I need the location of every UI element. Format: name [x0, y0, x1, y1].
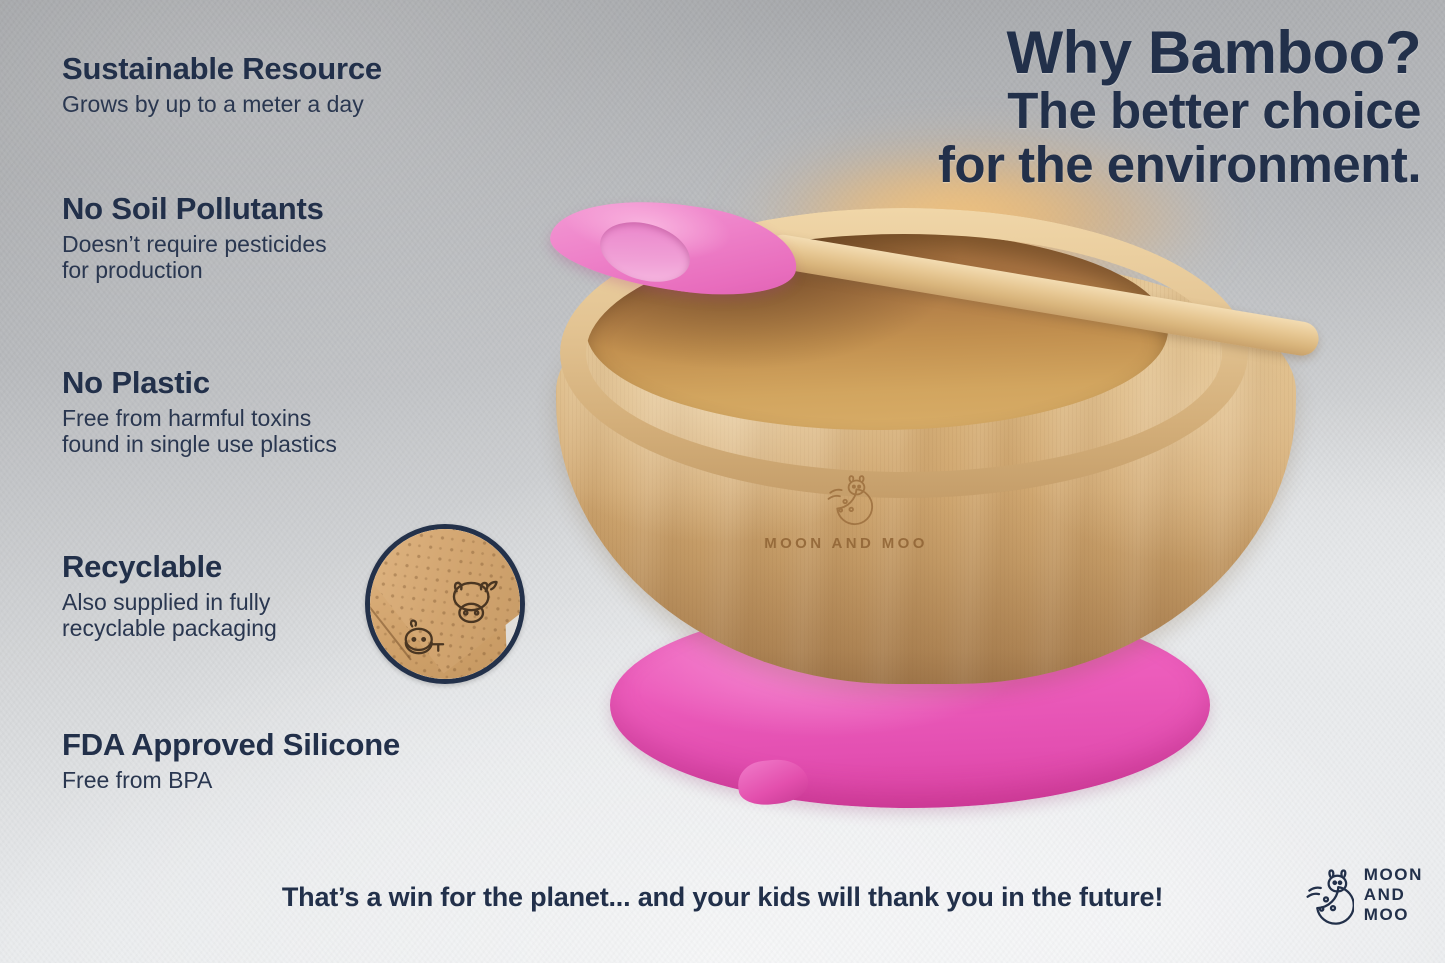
- feature-title: No Plastic: [62, 366, 532, 401]
- moon-cow-logo-icon: [1298, 864, 1354, 926]
- headline-line-1: Why Bamboo?: [781, 22, 1421, 83]
- packaging-photo: [370, 529, 520, 679]
- headline-line-3: for the environment.: [781, 139, 1421, 191]
- feature-subtitle: Doesn’t require pesticides for productio…: [62, 231, 532, 284]
- infographic-canvas: MOON AND MOO Why Bamboo? The better choi…: [0, 0, 1445, 963]
- feature-title: Recyclable: [62, 550, 362, 585]
- cow-illustration-icon: [444, 573, 502, 631]
- spoon-handle: [763, 232, 1321, 358]
- feature-subtitle-line: Doesn’t require pesticides: [62, 231, 532, 258]
- bowl-engraving: MOON AND MOO: [736, 470, 956, 552]
- feature-recyclable: Recyclable Also supplied in fully recycl…: [62, 550, 362, 642]
- spoon-silicone-head: [545, 187, 803, 307]
- feature-subtitle-line: found in single use plastics: [62, 431, 532, 458]
- engraving-text: MOON AND MOO: [736, 535, 956, 552]
- feature-subtitle-line: for production: [62, 257, 532, 284]
- spoon-scoop-hollow: [593, 212, 697, 291]
- brand-line-1: MOON: [1364, 865, 1423, 885]
- feature-subtitle: Also supplied in fully recyclable packag…: [62, 589, 362, 642]
- feature-no-soil-pollutants: No Soil Pollutants Doesn’t require pesti…: [62, 192, 532, 284]
- brand-line-3: MOO: [1364, 905, 1423, 925]
- cow-bowl-illustration-icon: [396, 615, 448, 667]
- bamboo-spoon-pink-tip: [508, 188, 1338, 388]
- brand-name: MOON AND MOO: [1364, 865, 1423, 925]
- feature-no-plastic: No Plastic Free from harmful toxins foun…: [62, 366, 532, 458]
- feature-subtitle-line: Grows by up to a meter a day: [62, 91, 532, 118]
- feature-subtitle-line: Free from harmful toxins: [62, 405, 532, 432]
- feature-subtitle: Grows by up to a meter a day: [62, 91, 532, 118]
- feature-subtitle: Free from BPA: [62, 767, 532, 794]
- feature-subtitle-line: Free from BPA: [62, 767, 532, 794]
- feature-subtitle-line: Also supplied in fully: [62, 589, 362, 616]
- brand-line-2: AND: [1364, 885, 1423, 905]
- feature-title: Sustainable Resource: [62, 52, 532, 87]
- feature-title: No Soil Pollutants: [62, 192, 532, 227]
- recyclable-packaging-badge: [365, 524, 525, 684]
- brand-lockup: MOON AND MOO: [1298, 864, 1423, 926]
- feature-subtitle-line: recyclable packaging: [62, 615, 362, 642]
- feature-sustainable-resource: Sustainable Resource Grows by up to a me…: [62, 52, 532, 117]
- feature-fda-approved-silicone: FDA Approved Silicone Free from BPA: [62, 728, 532, 793]
- bottom-tagline: That’s a win for the planet... and your …: [0, 882, 1445, 913]
- feature-subtitle: Free from harmful toxins found in single…: [62, 405, 532, 458]
- moon-cow-logo-icon: [818, 470, 874, 526]
- feature-title: FDA Approved Silicone: [62, 728, 532, 763]
- headline-line-2: The better choice: [781, 85, 1421, 137]
- headline: Why Bamboo? The better choice for the en…: [781, 22, 1421, 191]
- product-photo: MOON AND MOO: [498, 188, 1348, 828]
